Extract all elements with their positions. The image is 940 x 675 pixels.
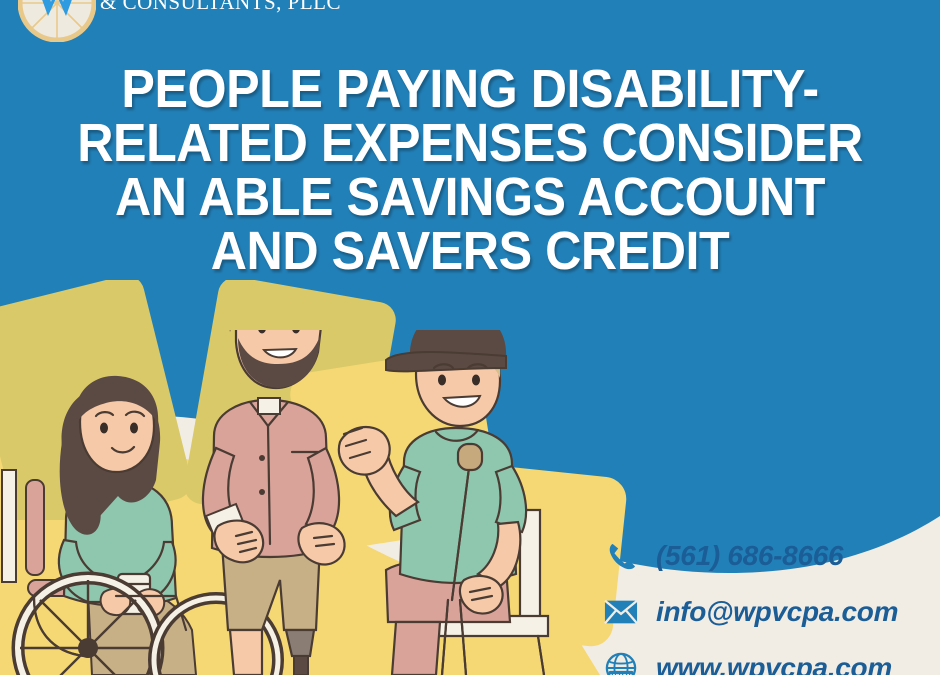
figure-standing-man — [203, 330, 345, 675]
headline-line-4: AND SAVERS CREDIT — [46, 224, 894, 278]
phone-icon — [598, 536, 644, 576]
figure-seated-man — [339, 330, 548, 675]
website-url: www.wpvcpa.com — [644, 652, 892, 675]
people-illustration: .ln { stroke:#4A3B33; stroke-width:2.2; … — [0, 330, 600, 675]
compass-w-logo-icon — [18, 0, 96, 42]
headline-line-1: PEOPLE PAYING DISABILITY- — [46, 62, 894, 116]
email-address: info@wpvcpa.com — [644, 596, 898, 628]
company-logo — [18, 0, 96, 42]
envelope-icon — [598, 592, 644, 632]
phone-number: (561) 686-8666 — [644, 540, 843, 572]
headline-line-3: AN ABLE SAVINGS ACCOUNT — [46, 170, 894, 224]
poster-canvas: .ln { stroke:#4A3B33; stroke-width:2.2; … — [0, 0, 940, 675]
headline-line-2: RELATED EXPENSES CONSIDER — [46, 116, 894, 170]
contact-row-phone[interactable]: (561) 686-8666 — [598, 528, 938, 584]
contact-row-email[interactable]: info@wpvcpa.com — [598, 584, 938, 640]
globe-www-icon: WWW — [598, 648, 644, 675]
company-name: & CONSULTANTS, PLLC — [100, 0, 341, 15]
contact-block: (561) 686-8666 info@wpvcpa.com — [598, 528, 938, 675]
contact-row-website[interactable]: WWW www.wpvcpa.com — [598, 640, 938, 675]
page-title: PEOPLE PAYING DISABILITY- RELATED EXPENS… — [46, 62, 894, 278]
